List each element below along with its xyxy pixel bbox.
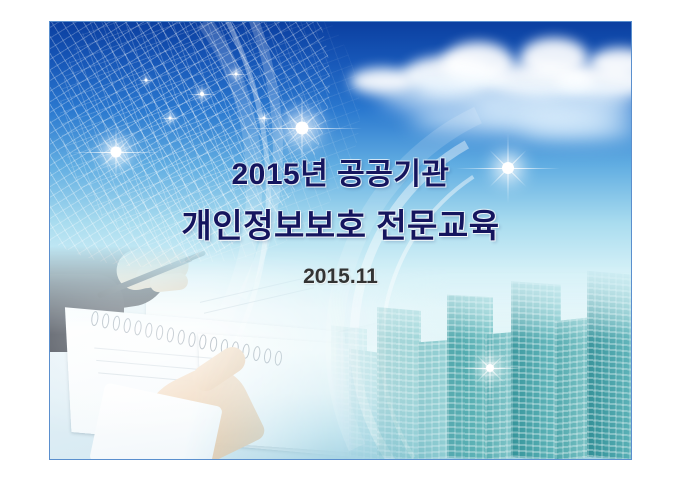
slide-title-block: 2015년 공공기관 개인정보보호 전문교육 2015.11: [50, 158, 631, 289]
slide-date: 2015.11: [50, 265, 631, 289]
presentation-title-slide: 2015년 공공기관 개인정보보호 전문교육 2015.11: [49, 21, 632, 460]
title-line-1: 2015년 공공기관: [50, 158, 631, 193]
skyscraper-city-illustration: [331, 264, 631, 459]
title-line-2: 개인정보보호 전문교육: [50, 207, 631, 245]
screenshot-canvas: 2015년 공공기관 개인정보보호 전문교육 2015.11: [0, 0, 680, 481]
